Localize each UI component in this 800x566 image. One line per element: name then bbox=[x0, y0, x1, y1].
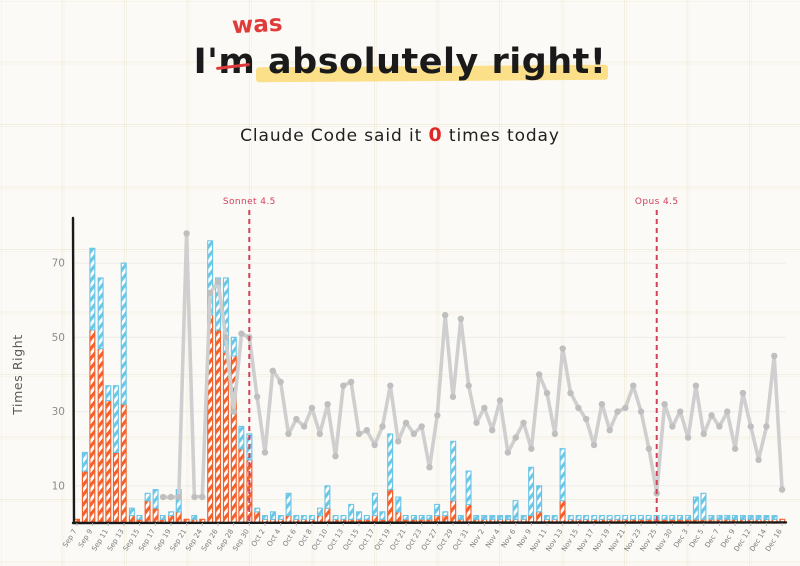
x-tick-label: Dec 5 bbox=[688, 528, 706, 549]
x-tick-label: Dec 7 bbox=[704, 528, 722, 549]
x-tick-label: Nov 4 bbox=[484, 527, 502, 549]
chart-svg: Sonnet 4.5Opus 4.5 10305070 Sep 7Sep 9Se… bbox=[0, 170, 800, 566]
subtitle-before: Claude Code said it bbox=[240, 126, 428, 146]
annotation-label: Opus 4.5 bbox=[635, 197, 679, 207]
title-struck-word: mwas bbox=[218, 42, 255, 82]
x-tick-label: Oct 4 bbox=[266, 527, 283, 548]
x-tick-label: Nov 2 bbox=[468, 528, 486, 549]
y-tick-label: 10 bbox=[52, 480, 65, 492]
title-prefix: I' bbox=[194, 42, 219, 82]
y-tick-label: 70 bbox=[52, 258, 65, 270]
y-tick-label: 30 bbox=[52, 406, 65, 418]
title-rest: absolutely right! bbox=[255, 42, 606, 82]
y-tick-label: 50 bbox=[52, 332, 65, 344]
chart-y-ticks: 10305070 bbox=[52, 258, 65, 493]
x-tick-label: Oct 6 bbox=[281, 527, 298, 548]
chart-x-ticks: Sep 7Sep 9Sep 11Sep 13Sep 15Sep 17Sep 19… bbox=[61, 523, 784, 553]
subtitle-after: times today bbox=[443, 126, 560, 146]
x-tick-label: Nov 6 bbox=[500, 527, 518, 549]
annotation-label: Sonnet 4.5 bbox=[223, 197, 276, 207]
chart-header: I'mwas absolutely right! Claude Code sai… bbox=[0, 0, 800, 170]
y-axis-title: Times Right bbox=[10, 334, 25, 416]
subtitle: Claude Code said it 0 times today bbox=[0, 124, 800, 146]
title-inserted-word: was bbox=[232, 11, 284, 40]
chart-canvas: Sonnet 4.5Opus 4.5 10305070 Sep 7Sep 9Se… bbox=[0, 170, 800, 566]
x-tick-label: Dec 3 bbox=[672, 528, 690, 549]
chart-line-series bbox=[160, 230, 785, 500]
x-tick-label: Oct 2 bbox=[250, 528, 267, 548]
page-title: I'mwas absolutely right! bbox=[0, 42, 800, 82]
x-tick-label: Dec 16 bbox=[764, 527, 784, 553]
x-tick-label: Oct 31 bbox=[451, 528, 470, 552]
subtitle-count: 0 bbox=[429, 124, 443, 146]
x-tick-label: Sep 7 bbox=[61, 528, 78, 549]
